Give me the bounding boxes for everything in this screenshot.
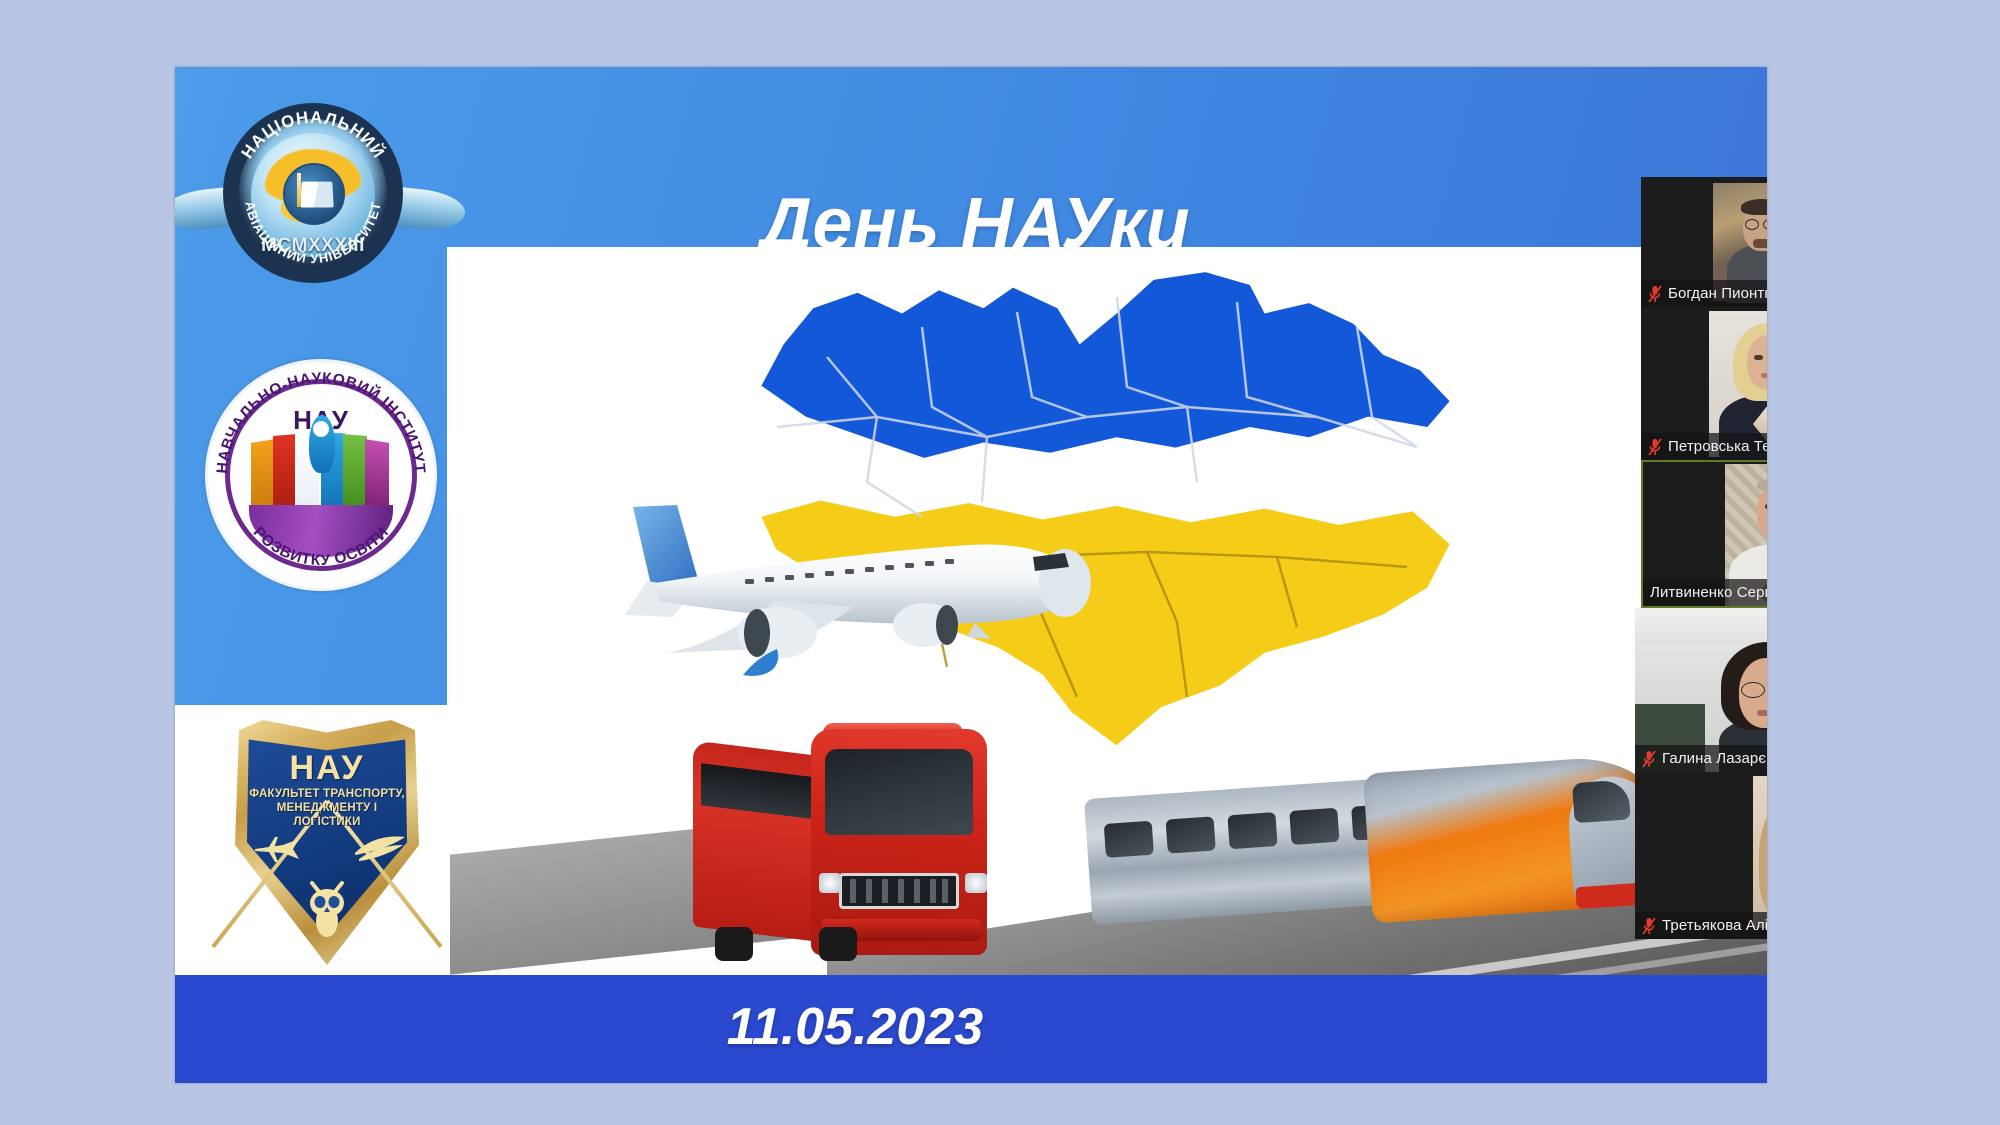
- logo-institute-of-education-development: НАУ НАВЧАЛЬНО-НАУКОВИЙ ІНСТИТУТ РОЗВИТКУ…: [205, 359, 437, 591]
- mic-muted-icon: [1648, 438, 1662, 456]
- shield-subtitle: ФАКУЛЬТЕТ ТРАНСПОРТУ, МЕНЕДЖМЕНТУ І ЛОГІ…: [243, 787, 411, 829]
- transport-collage: [447, 247, 1767, 975]
- nniro-arc-text: НАВЧАЛЬНО-НАУКОВИЙ ІНСТИТУТ РОЗВИТКУ ОСВ…: [205, 359, 437, 591]
- presentation-slide: День НАУки: [175, 67, 1767, 1083]
- svg-text:НАВЧАЛЬНО-НАУКОВИЙ ІНСТИТУТ: НАВЧАЛЬНО-НАУКОВИЙ ІНСТИТУТ: [214, 370, 428, 474]
- emblem-arc-text: НАЦІОНАЛЬНИЙ АВІАЦІЙНИЙ УНІВЕРСИТЕТ: [223, 103, 403, 283]
- participant-tile[interactable]: Петровська Тетяна: [1641, 307, 1767, 460]
- svg-text:РОЗВИТКУ ОСВІТИ: РОЗВИТКУ ОСВІТИ: [250, 524, 393, 569]
- participant-namebar: Литвиненко Сергій: [1643, 579, 1767, 606]
- participant-namebar: Богдан Пионтковский-Выхватень: [1641, 280, 1767, 307]
- slide-footer: 11.05.2023: [175, 975, 1767, 1083]
- shield-title: НАУ: [227, 749, 427, 788]
- bus-wheel-rear: [715, 927, 753, 961]
- content-plate: [447, 247, 1767, 975]
- wing-icon: [353, 833, 407, 863]
- participant-namebar: Третьякова Аліна: [1635, 912, 1767, 939]
- participant-name: Литвиненко Сергій: [1650, 584, 1767, 601]
- participant-name: Богдан Пионтковский-Выхватень: [1668, 285, 1767, 302]
- logo-faculty-of-transport: НАУ ФАКУЛЬТЕТ ТРАНСПОРТУ, МЕНЕДЖМЕНТУ І …: [227, 715, 427, 965]
- mic-muted-icon: [1642, 750, 1656, 768]
- airplane-icon: [253, 835, 301, 863]
- participant-tile[interactable]: Галина Лазарєва: [1635, 608, 1767, 772]
- desktop-backdrop: День НАУки: [0, 0, 2000, 1125]
- participants-video-panel[interactable]: Богдан Пионтковский-Выхватень: [1641, 177, 1767, 1083]
- logo-national-aviation-university: MCMXXXIII НАЦІОНАЛЬНИЙ АВІАЦІЙНИЙ УНІВЕР…: [187, 97, 439, 342]
- train-locomotive: [1363, 753, 1673, 924]
- participant-namebar: Петровська Тетяна: [1641, 433, 1767, 460]
- participant-tile-active[interactable]: Литвиненко Сергій: [1641, 460, 1767, 608]
- participant-name: Третьякова Аліна: [1662, 917, 1767, 934]
- slide-date: 11.05.2023: [555, 997, 1155, 1057]
- ground-vehicles: [447, 685, 1767, 975]
- bus-wheel-front: [819, 927, 857, 961]
- participant-namebar: Галина Лазарєва: [1635, 745, 1767, 772]
- svg-text:АВІАЦІЙНИЙ УНІВЕРСИТЕТ: АВІАЦІЙНИЙ УНІВЕРСИТЕТ: [242, 200, 383, 266]
- participant-name: Галина Лазарєва: [1662, 750, 1767, 767]
- bus-windshield: [825, 749, 973, 835]
- bus-headlight-right: [965, 873, 987, 893]
- airplane-illustration: [625, 497, 1145, 687]
- participant-tile[interactable]: Третьякова Аліна: [1635, 772, 1767, 939]
- owl-icon: [304, 877, 350, 939]
- svg-text:НАЦІОНАЛЬНИЙ: НАЦІОНАЛЬНИЙ: [238, 108, 389, 162]
- bus-headlight-left: [819, 873, 841, 893]
- bus-grille: [839, 873, 959, 909]
- participant-name: Петровська Тетяна: [1668, 438, 1767, 455]
- participant-video: [1753, 776, 1767, 928]
- participant-tile[interactable]: Богдан Пионтковский-Выхватень: [1641, 177, 1767, 307]
- mic-muted-icon: [1642, 917, 1656, 935]
- mic-muted-icon: [1648, 285, 1662, 303]
- bus-illustration: [693, 723, 993, 959]
